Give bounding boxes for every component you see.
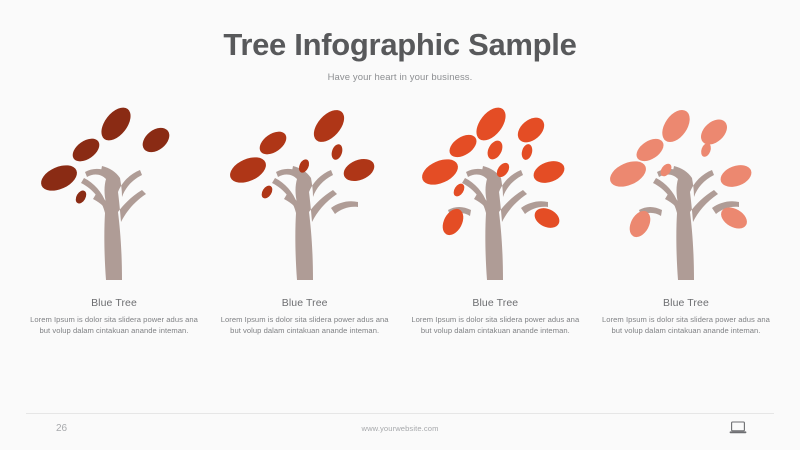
footer-divider (26, 413, 774, 414)
tree-column-2[interactable]: Blue Tree Lorem Ipsum is dolor sita slid… (213, 100, 397, 337)
laptop-icon[interactable] (728, 420, 748, 436)
column-body: Lorem Ipsum is dolor sita slidera power … (597, 314, 775, 337)
tree-column-3[interactable]: Blue Tree Lorem Ipsum is dolor sita slid… (403, 100, 587, 337)
column-body: Lorem Ipsum is dolor sita slidera power … (406, 314, 584, 337)
page-title: Tree Infographic Sample (0, 26, 800, 64)
footer-website-label: www.yourwebsite.com (0, 423, 800, 435)
column-body: Lorem Ipsum is dolor sita slidera power … (216, 314, 394, 337)
column-body: Lorem Ipsum is dolor sita slidera power … (25, 314, 203, 337)
column-title: Blue Tree (282, 296, 328, 310)
slide-footer: 26 www.yourwebsite.com (0, 418, 800, 450)
tree-column-group: Blue Tree Lorem Ipsum is dolor sita slid… (22, 100, 778, 337)
column-title: Blue Tree (663, 296, 709, 310)
column-title: Blue Tree (91, 296, 137, 310)
slide-canvas: Tree Infographic Sample Have your heart … (0, 0, 800, 450)
tree-trunk (448, 166, 548, 280)
slide-header: Tree Infographic Sample Have your heart … (0, 26, 800, 85)
tree-icon (225, 100, 385, 280)
tree-icon (415, 100, 575, 280)
tree-trunk (272, 166, 358, 280)
page-subtitle: Have your heart in your business. (0, 71, 800, 85)
tree-icon (606, 100, 766, 280)
tree-trunk (81, 166, 146, 280)
tree-column-1[interactable]: Blue Tree Lorem Ipsum is dolor sita slid… (22, 100, 206, 337)
tree-icon (34, 100, 194, 280)
tree-column-4[interactable]: Blue Tree Lorem Ipsum is dolor sita slid… (594, 100, 778, 337)
column-title: Blue Tree (472, 296, 518, 310)
